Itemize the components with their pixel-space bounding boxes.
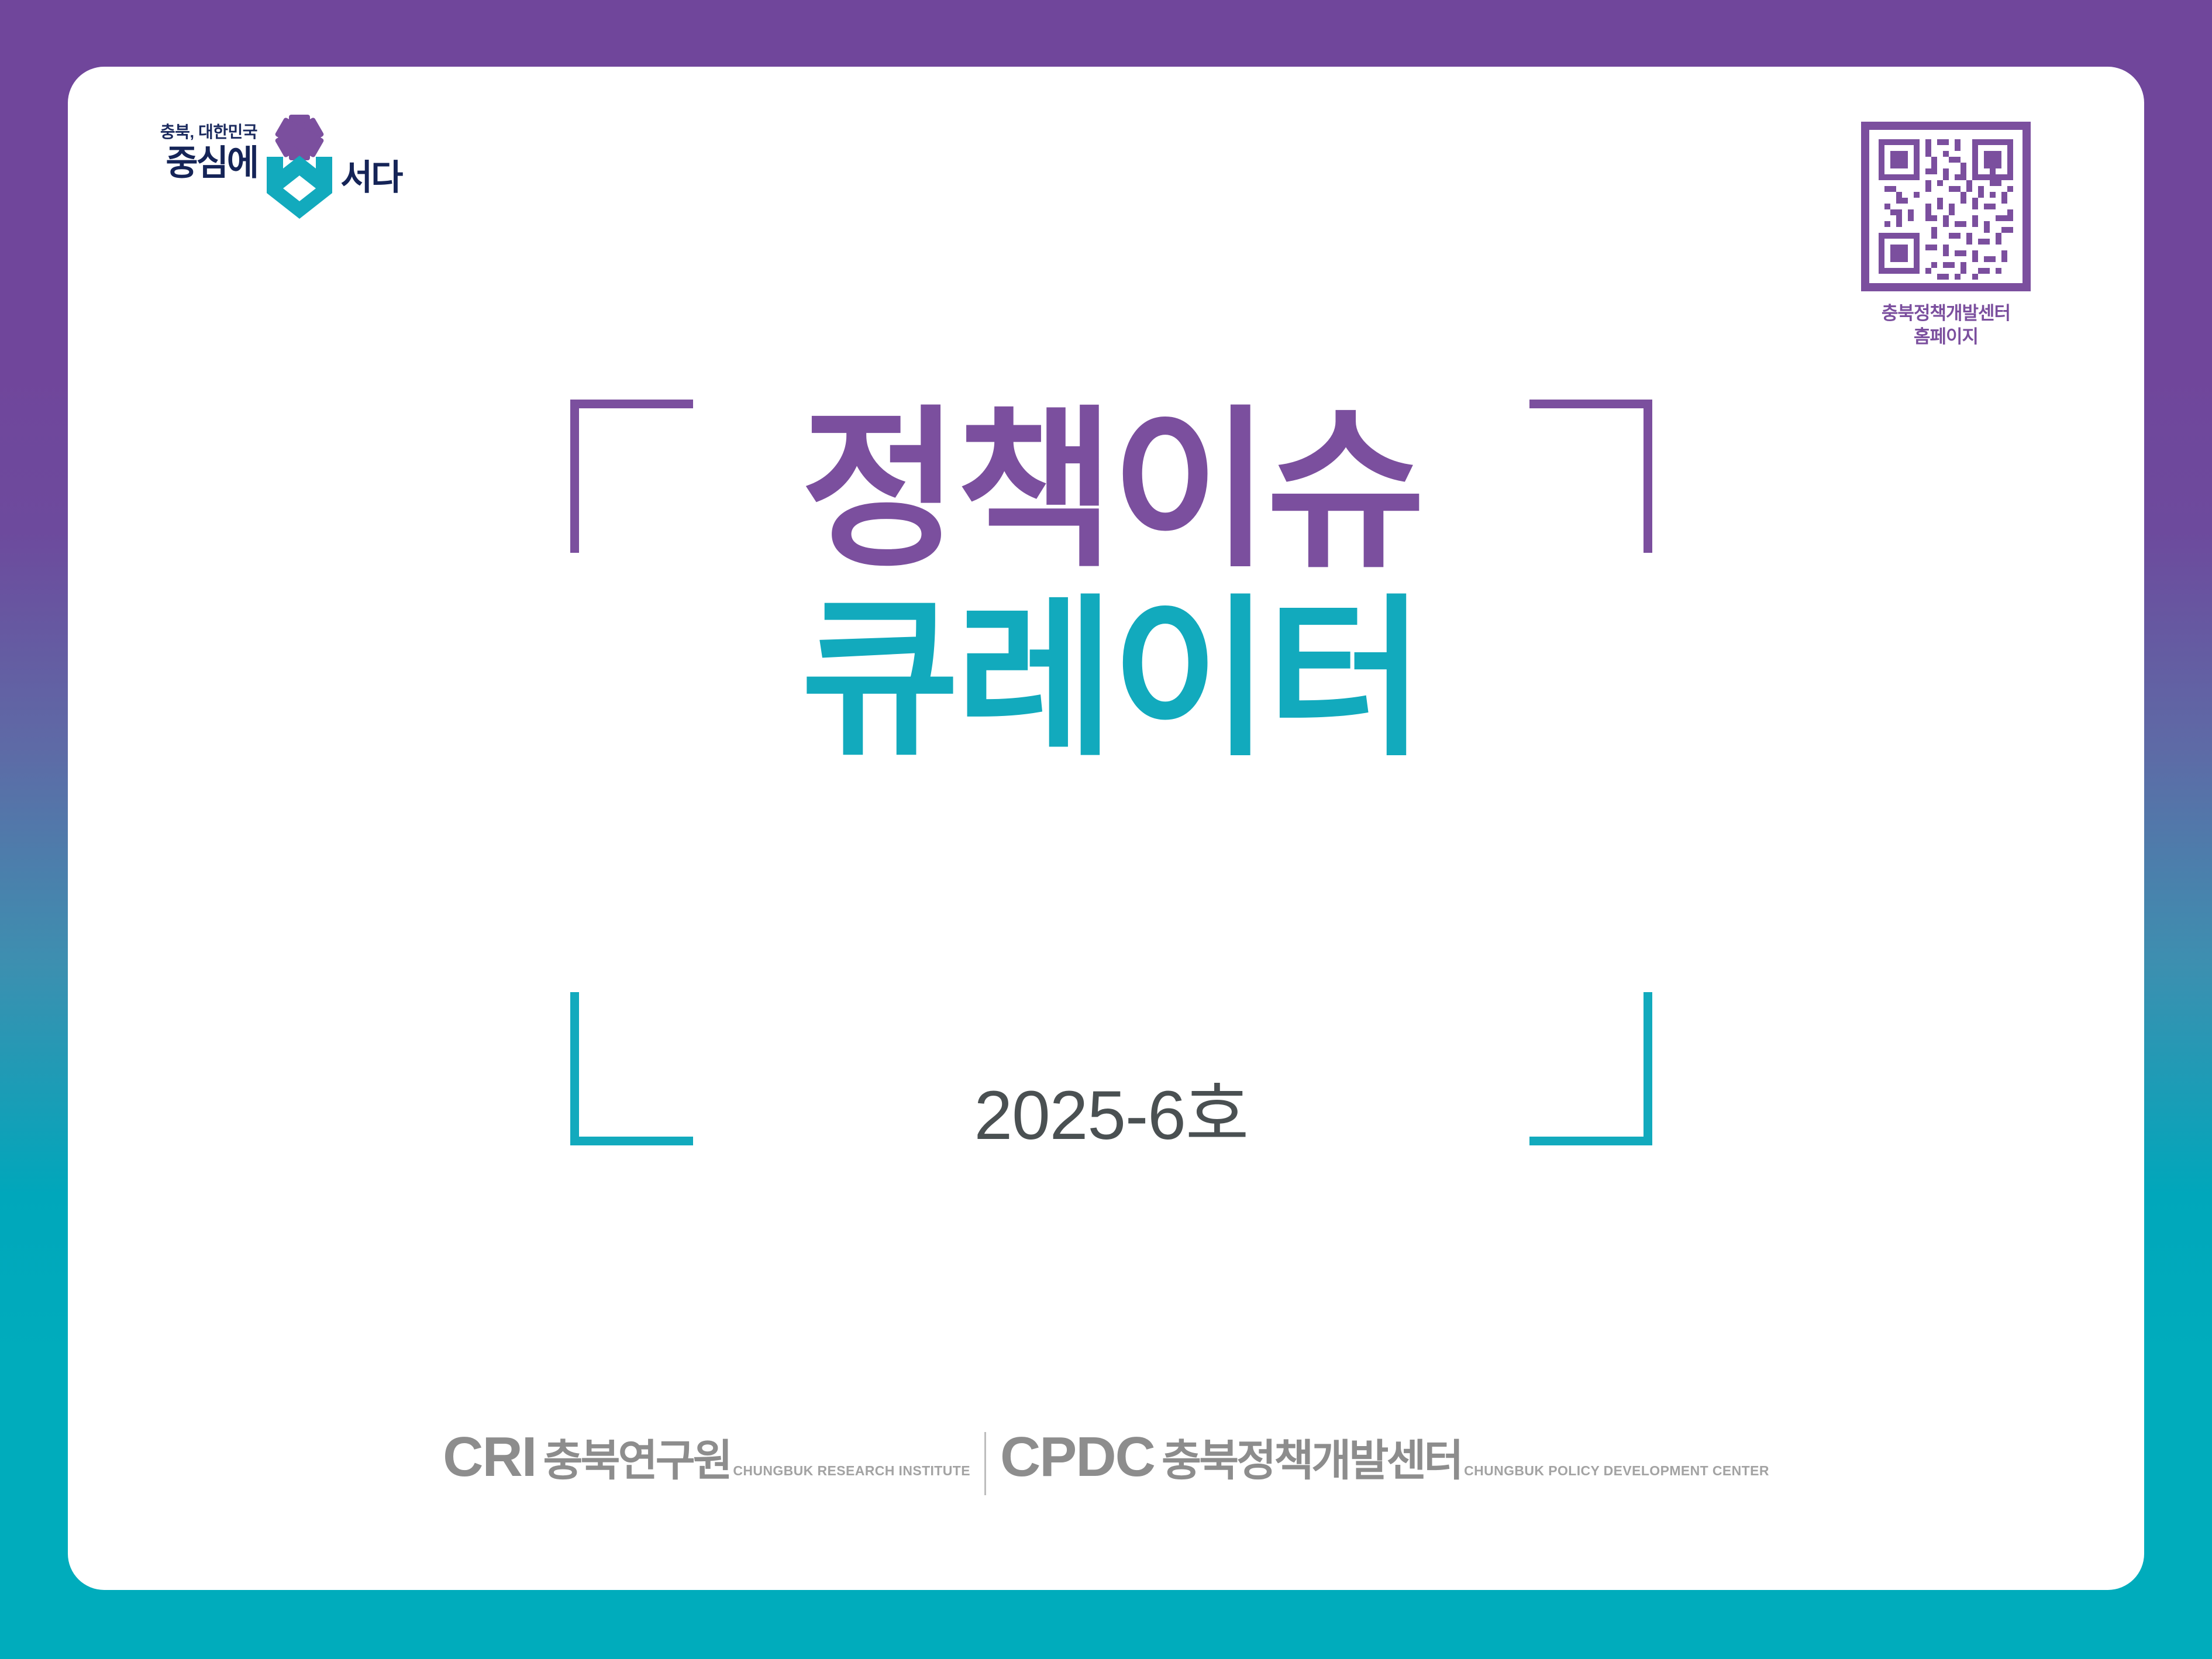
footer-divider	[984, 1432, 986, 1495]
org-names-cri: 충북연구원 CHUNGBUK RESEARCH INSTITUTE	[543, 1439, 970, 1482]
cover-page: 충북, 대한민국 중심에 서다	[0, 0, 2212, 1659]
org-name-en-cpdc: CHUNGBUK POLICY DEVELOPMENT CENTER	[1464, 1463, 1769, 1478]
chungbuk-ci-symbol-icon	[262, 115, 337, 219]
org-logo-cpdc: CPDC 충북정책개발센터 CHUNGBUK POLICY DEVELOPMEN…	[1000, 1432, 1769, 1482]
org-name-ko-cri: 충북연구원	[543, 1436, 730, 1485]
hero-title-block: 정책이슈 큐레이터 2025-6호	[570, 400, 1652, 1145]
ci-logo-text: 충북, 대한민국 중심에	[111, 124, 257, 181]
chungbuk-ci-logo: 충북, 대한민국 중심에 서다	[111, 124, 392, 223]
ci-tagline-tail: 서다	[340, 160, 401, 195]
qr-caption-line-2: 홈페이지	[1849, 325, 2042, 349]
title-stack: 정책이슈 큐레이터	[570, 400, 1652, 766]
qr-caption-line-1: 충북정책개발센터	[1849, 302, 2042, 325]
org-name-ko-cpdc: 충북정책개발센터	[1162, 1436, 1462, 1485]
org-abbr-cri: CRI	[443, 1432, 536, 1482]
ci-tagline-small: 충북, 대한민국	[111, 124, 257, 140]
org-abbr-cpdc: CPDC	[1000, 1432, 1155, 1482]
title-line-policy-issue: 정책이슈	[570, 404, 1652, 577]
title-line-curator: 큐레이터	[570, 593, 1652, 766]
qr-caption: 충북정책개발센터 홈페이지	[1849, 302, 2042, 349]
qr-block[interactable]: 충북정책개발센터 홈페이지	[1849, 122, 2042, 349]
ci-tagline-big: 중심에	[111, 146, 257, 181]
qr-code-icon[interactable]	[1861, 122, 2031, 291]
org-names-cpdc: 충북정책개발센터 CHUNGBUK POLICY DEVELOPMENT CEN…	[1162, 1439, 1769, 1482]
org-name-en-cri: CHUNGBUK RESEARCH INSTITUTE	[733, 1463, 970, 1478]
issue-number: 2025-6호	[570, 1081, 1652, 1150]
footer-logos: CRI 충북연구원 CHUNGBUK RESEARCH INSTITUTE CP…	[0, 1432, 2212, 1495]
org-logo-cri: CRI 충북연구원 CHUNGBUK RESEARCH INSTITUTE	[443, 1432, 970, 1482]
